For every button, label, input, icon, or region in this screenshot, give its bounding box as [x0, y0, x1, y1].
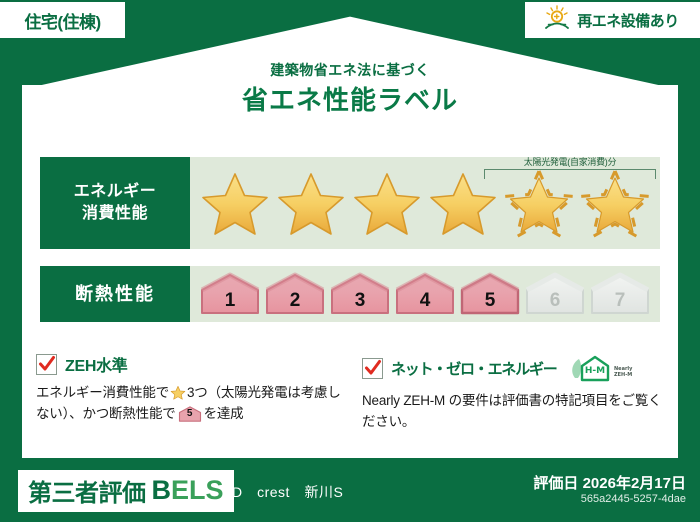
zeh-m-logo-icon: H-M Nearly ZEH-M	[569, 352, 633, 384]
evaluation-date: 評価日 2026年2月17日	[533, 472, 686, 493]
svg-text:H-M: H-M	[584, 366, 604, 376]
insulation-level-number: 2	[263, 290, 327, 312]
criteria-netzero-block: ネット・ゼロ・エネルギー H-M Nearly ZEH-M Nearly ZEH…	[362, 352, 672, 433]
svg-text:ZEH-M: ZEH-M	[614, 372, 632, 378]
energy-performance-row: エネルギー 消費性能 太陽光発電(自家消費)分	[40, 157, 660, 249]
energy-performance-label: エネルギー 消費性能	[40, 157, 190, 249]
insulation-level-on-achieved: 5	[458, 271, 522, 317]
criteria-zeh-text-count: 3つ（太陽光発電	[187, 385, 287, 400]
criteria-netzero-header: ネット・ゼロ・エネルギー H-M Nearly ZEH-M	[362, 352, 672, 384]
energy-rating-area: 太陽光発電(自家消費)分	[190, 157, 660, 249]
renewable-energy-tag-label: 再エネ設備あり	[577, 10, 679, 31]
insulation-rating-area: 1 2 3 4	[190, 266, 660, 322]
star-filled	[426, 168, 500, 238]
star-filled	[350, 168, 424, 238]
label-title-block: 建築物省エネ法に基づく 省エネ性能ラベル	[0, 62, 700, 116]
insulation-level-number: 4	[393, 290, 457, 312]
criteria-zeh-text-post: を達成	[204, 406, 244, 421]
red-check-icon	[362, 358, 383, 379]
criteria-zeh-block: ZEH水準 エネルギー消費性能で3つ（太陽光発電は考慮しない）、かつ断熱性能で5…	[36, 352, 348, 425]
insulation-level-on: 4	[393, 271, 457, 317]
inline-house-number: 5	[178, 406, 202, 422]
bels-jp-label: 第三者評価	[28, 473, 146, 508]
criteria-zeh-header: ZEH水準	[36, 352, 348, 376]
bels-b-letter: B	[152, 475, 172, 506]
star-solar-dashed	[578, 168, 652, 238]
inline-star-icon	[170, 385, 186, 401]
criteria-zeh-title: ZEH水準	[65, 352, 128, 376]
solar-sun-icon	[542, 4, 572, 36]
criteria-netzero-body: Nearly ZEH-M の要件は評価書の特記項目をご覧ください。	[362, 391, 672, 433]
insulation-level-number: 1	[198, 290, 262, 312]
star-solar-dashed	[502, 168, 576, 238]
energy-performance-label: 住宅(住棟) 再エネ設備あり 建築物省エネ法に基づく 省エネ性能ラベル	[0, 0, 700, 522]
bels-els-letters: ELS	[171, 475, 224, 506]
insulation-level-on: 2	[263, 271, 327, 317]
insulation-level-number: 3	[328, 290, 392, 312]
label-footer: 第三者評価 B ELS D crest 新川S 評価日 2026年2月17日 5…	[0, 462, 700, 522]
star-filled	[198, 168, 272, 238]
house-type-tag: 住宅(住棟)	[0, 2, 125, 38]
insulation-level-number: 5	[458, 290, 522, 312]
insulation-level-number: 6	[523, 290, 587, 312]
criteria-zeh-text-pre: エネルギー消費性能で	[36, 385, 169, 400]
solar-contribution-note: 太陽光発電(自家消費)分	[484, 155, 656, 168]
star-filled	[274, 168, 348, 238]
insulation-level-number: 7	[588, 290, 652, 312]
star-rating-group	[190, 168, 652, 238]
bels-badge: 第三者評価 B ELS	[18, 470, 234, 512]
insulation-level-off: 6	[523, 271, 587, 317]
building-name: D crest 新川S	[232, 482, 343, 502]
criteria-zeh-body: エネルギー消費性能で3つ（太陽光発電は考慮しない）、かつ断熱性能で5を達成	[36, 383, 348, 425]
renewable-energy-tag: 再エネ設備あり	[525, 2, 700, 38]
criteria-netzero-title: ネット・ゼロ・エネルギー	[391, 358, 557, 379]
red-check-icon	[36, 354, 57, 375]
insulation-label-text: 断熱性能	[75, 282, 155, 306]
energy-label-line1: エネルギー	[74, 181, 157, 203]
label-title-sub: 建築物省エネ法に基づく	[0, 62, 700, 79]
insulation-performance-row: 断熱性能 1 2 3	[40, 266, 660, 322]
insulation-level-group: 1 2 3 4	[190, 271, 652, 317]
insulation-level-on: 1	[198, 271, 262, 317]
energy-label-line2: 消費性能	[82, 203, 148, 225]
insulation-level-on: 3	[328, 271, 392, 317]
house-type-tag-label: 住宅(住棟)	[24, 8, 100, 33]
label-title-main: 省エネ性能ラベル	[0, 85, 700, 116]
evaluation-id: 565a2445-5257-4dae	[581, 493, 686, 505]
insulation-level-off: 7	[588, 271, 652, 317]
inline-house-icon: 5	[178, 405, 202, 423]
insulation-performance-label: 断熱性能	[40, 266, 190, 322]
